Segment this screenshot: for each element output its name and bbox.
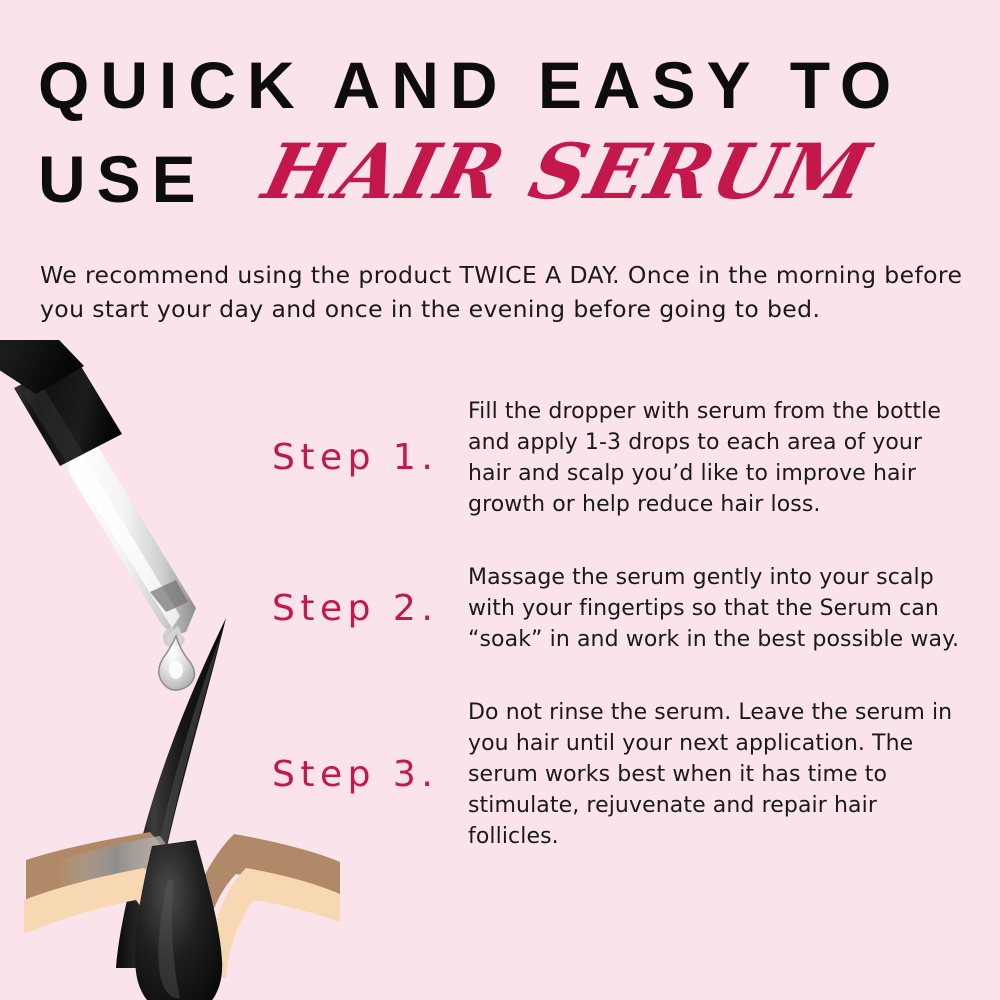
headline-line-2: USE HAIR SERUM [38, 130, 968, 214]
poster-canvas: QUICK AND EASY TO USE HAIR SERUM We reco… [0, 0, 1000, 1000]
hair-shaft [116, 618, 226, 968]
hair-strand-icon [116, 618, 226, 968]
step-item: Step 1. Fill the dropper with serum from… [272, 396, 982, 520]
dropper-cap-icon [14, 358, 122, 466]
step-item: Step 2. Massage the serum gently into yo… [272, 562, 982, 655]
pipette-meniscus [150, 580, 188, 612]
pipette-highlight [52, 428, 180, 628]
scalp-shadow-patch [58, 836, 186, 908]
headline-word-use: USE [38, 144, 207, 214]
droplet-trail [167, 626, 181, 647]
subheading: We recommend using the product TWICE A D… [40, 258, 970, 326]
droplet-body [159, 636, 195, 690]
dropper-bulb-body [0, 340, 84, 394]
headline-script-wrap: HAIR SERUM [233, 128, 723, 220]
dropper-cap-highlight [22, 382, 84, 462]
hair-shaft-highlight [154, 632, 222, 868]
pipette-tip-bead [163, 628, 185, 648]
headline-script-text: HAIR SERUM [253, 128, 880, 217]
scalp-epidermis-layer [24, 868, 340, 978]
follicle-bulb-highlight [158, 880, 180, 998]
step-description: Fill the dropper with serum from the bot… [468, 396, 968, 520]
dropper-pipette-icon [44, 414, 196, 648]
steps-list: Step 1. Fill the dropper with serum from… [272, 396, 982, 852]
hair-follicle-bulb-icon [135, 840, 222, 1000]
step-label: Step 1. [272, 437, 468, 479]
droplet-highlight [169, 661, 183, 679]
step-description: Do not rinse the serum. Leave the serum … [468, 697, 973, 852]
scalp-dermis-layer [26, 832, 340, 966]
step-label: Step 3. [272, 754, 468, 796]
dropper-bulb-icon [0, 340, 84, 394]
step-item: Step 3. Do not rinse the serum. Leave th… [272, 697, 982, 852]
follicle-bulb-body [135, 840, 222, 1000]
pipette-glass-body [44, 414, 196, 636]
hair-serum-script-icon: HAIR SERUM [233, 128, 723, 220]
step-label: Step 2. [272, 588, 468, 630]
dropper-cap-band [14, 358, 122, 466]
scalp-cross-section-icon [24, 832, 340, 978]
headline-line-1: QUICK AND EASY TO [38, 48, 968, 122]
serum-droplet-icon [159, 626, 195, 690]
step-description: Massage the serum gently into your scalp… [468, 562, 982, 655]
headline: QUICK AND EASY TO USE HAIR SERUM [38, 48, 968, 214]
